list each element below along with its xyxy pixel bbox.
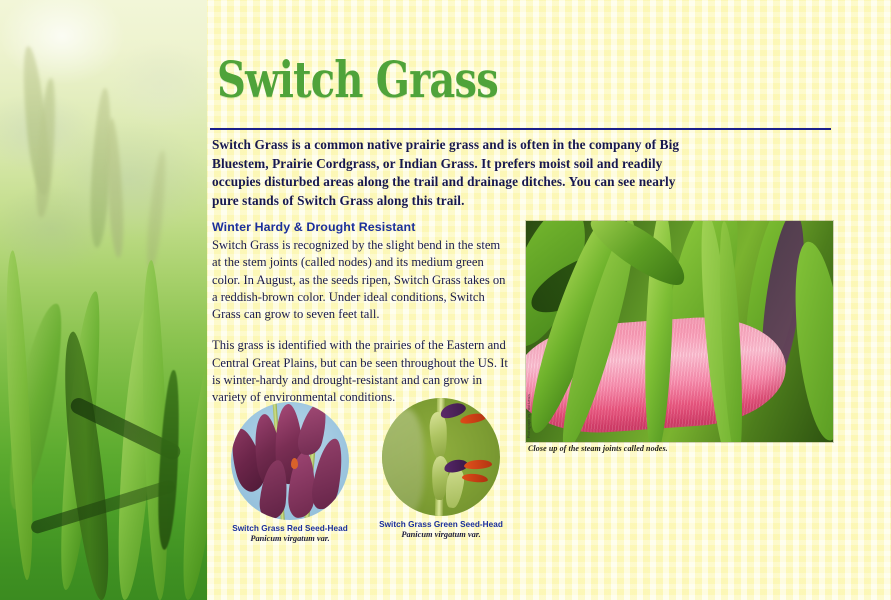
circle-photo-green-seed-head: Photograph by Paul Lewis [382, 398, 500, 516]
circle-photo-green-wrapper: Photograph by Paul Lewis Switch Grass Gr… [382, 398, 500, 516]
seed-head [429, 412, 448, 459]
anther-orange [459, 412, 486, 425]
anther [291, 458, 298, 469]
body-paragraph-1: Switch Grass is recognized by the slight… [212, 237, 512, 323]
background-blur [382, 408, 424, 516]
circle-photo-green-caption: Switch Grass Green Seed-Head Panicum vir… [356, 520, 526, 539]
page-title: Switch Grass [217, 52, 498, 108]
caption-scientific-name: Panicum virgatum var. [356, 530, 526, 539]
circle-photo-red-wrapper: Photograph by Paul Lewis Switch Grass Re… [231, 402, 349, 520]
caption-title: Switch Grass Green Seed-Head [356, 520, 526, 529]
left-grass-photo-strip [0, 0, 207, 600]
title-divider-rule [210, 128, 831, 130]
main-photo-caption: Close up of the steam joints called node… [528, 444, 668, 453]
anther-orange [464, 459, 493, 470]
intro-paragraph: Switch Grass is a common native prairie … [212, 136, 680, 210]
anther-orange [462, 473, 489, 484]
circle-photo-red-seed-head: Photograph by Paul Lewis [231, 402, 349, 520]
caption-title: Switch Grass Red Seed-Head [205, 524, 375, 533]
main-photo-nodes: Photograph by Paul Lewis [526, 221, 833, 442]
section-heading: Winter Hardy & Drought Resistant [212, 220, 415, 234]
left-strip-image [0, 0, 207, 600]
body-text-column: Switch Grass is recognized by the slight… [212, 237, 512, 407]
interpretive-sign-page: Switch Grass Switch Grass is a common na… [0, 0, 891, 600]
content-column: Switch Grass Switch Grass is a common na… [207, 0, 891, 600]
circle-photo-red-caption: Switch Grass Red Seed-Head Panicum virga… [205, 524, 375, 543]
caption-scientific-name: Panicum virgatum var. [205, 534, 375, 543]
photo-credit: Photograph by Paul Lewis [527, 394, 531, 438]
body-paragraph-2: This grass is identified with the prairi… [212, 337, 512, 406]
